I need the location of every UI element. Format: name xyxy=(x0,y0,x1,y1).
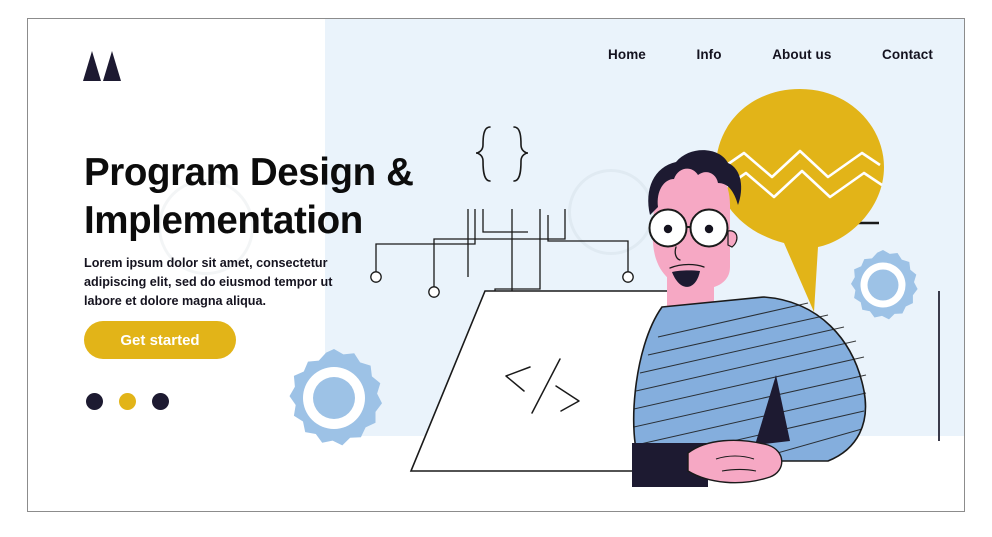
page-title: Program Design & Implementation xyxy=(84,149,464,246)
carousel-dot-2[interactable] xyxy=(119,393,136,410)
nav-item-about-us[interactable]: About us xyxy=(772,47,831,62)
nav-item-home[interactable]: Home xyxy=(608,47,646,62)
character-hand xyxy=(688,440,782,482)
mountain-m-logo-icon xyxy=(81,47,123,83)
carousel-dot-3[interactable] xyxy=(152,393,169,410)
page-title-line-1: Program Design & xyxy=(84,151,413,194)
character-sleeve-shadow xyxy=(632,443,708,487)
nav-item-contact[interactable]: Contact xyxy=(882,47,933,62)
screenshot-stage: Home Info About us Contact Program Desig… xyxy=(0,0,992,537)
mountain-m-logo[interactable] xyxy=(81,47,123,83)
main-navigation: Home Info About us Contact xyxy=(608,41,933,67)
carousel-dots xyxy=(86,393,169,410)
get-started-button[interactable]: Get started xyxy=(84,321,236,359)
page-title-line-2: Implementation xyxy=(84,199,363,242)
landing-page-frame: Home Info About us Contact Program Desig… xyxy=(27,18,965,512)
nav-item-info[interactable]: Info xyxy=(696,47,721,62)
carousel-dot-1[interactable] xyxy=(86,393,103,410)
hero-description: Lorem ipsum dolor sit amet, consectetur … xyxy=(84,254,346,311)
